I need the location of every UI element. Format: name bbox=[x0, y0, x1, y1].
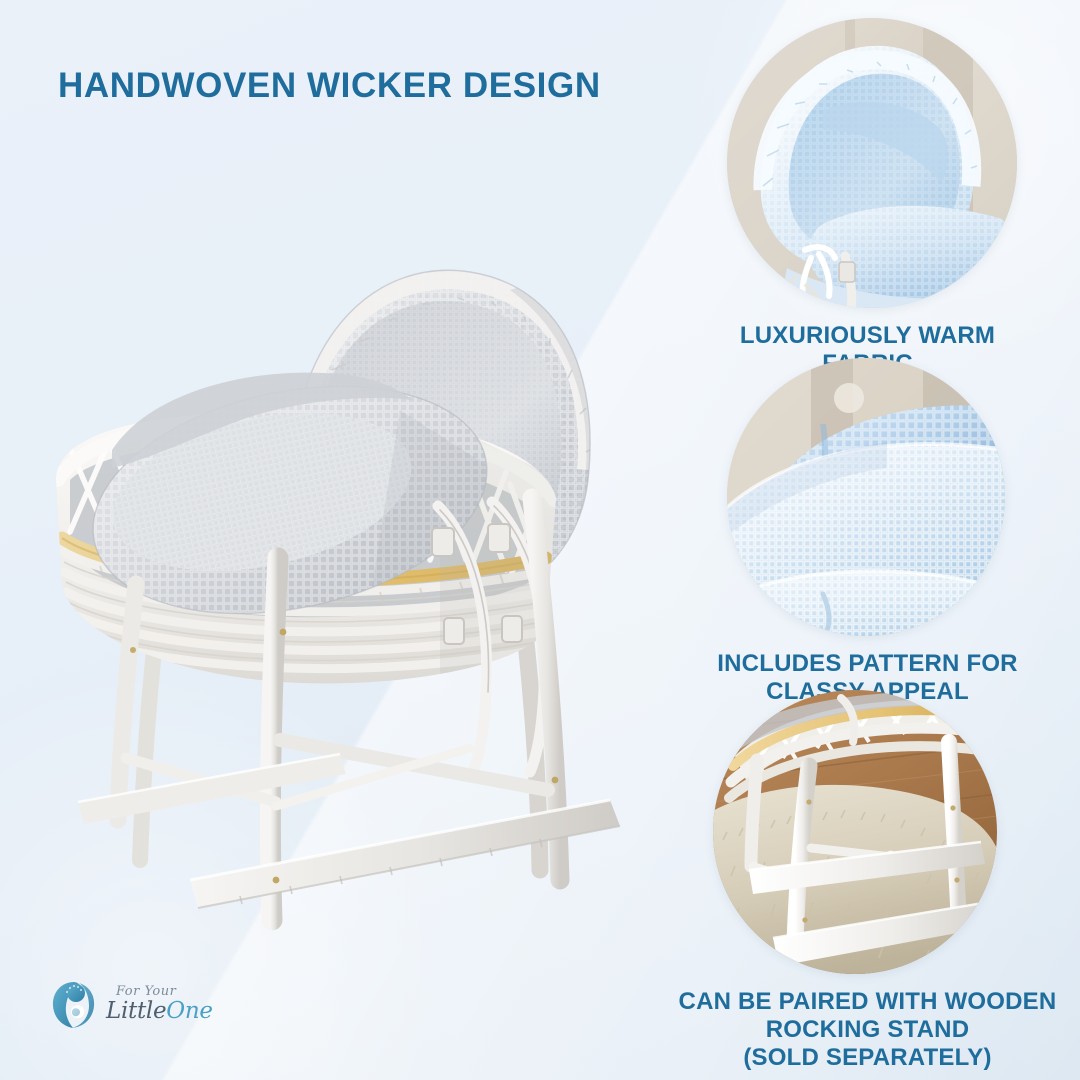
hero-product-image bbox=[40, 180, 660, 980]
caption-line: INCLUDES PATTERN FOR bbox=[655, 650, 1080, 678]
feature-pattern: INCLUDES PATTERN FOR CLASSY APPEAL bbox=[655, 358, 1080, 706]
logo-line-for-your: For Your bbox=[116, 985, 213, 998]
feature-column: LUXURIOUSLY WARM FABRIC bbox=[655, 0, 1080, 1080]
mother-and-baby-icon bbox=[48, 976, 100, 1032]
caption-line: CAN BE PAIRED WITH WOODEN bbox=[655, 988, 1080, 1016]
feature-rocking-stand: CAN BE PAIRED WITH WOODEN ROCKING STAND … bbox=[655, 690, 1080, 1071]
logo-word-little: Little bbox=[106, 998, 166, 1024]
page-title: HANDWOVEN WICKER DESIGN bbox=[58, 66, 601, 106]
logo-line-little-one: LittleOne bbox=[106, 1000, 213, 1023]
feature-caption: CAN BE PAIRED WITH WOODEN ROCKING STAND … bbox=[655, 988, 1080, 1071]
feature-warm-fabric: LUXURIOUSLY WARM FABRIC bbox=[655, 18, 1080, 378]
caption-line: ROCKING STAND bbox=[655, 1016, 1080, 1044]
logo-word-one: One bbox=[166, 998, 212, 1024]
blue-moses-basket-hood-closeup-image bbox=[727, 18, 1017, 308]
brand-logo-text: For Your LittleOne bbox=[106, 985, 213, 1023]
caption-line: (SOLD SEPARATELY) bbox=[655, 1044, 1080, 1072]
blue-waffle-fabric-texture-closeup-image bbox=[727, 358, 1005, 636]
brand-logo: For Your LittleOne bbox=[48, 968, 228, 1040]
caption-line: LUXURIOUSLY WARM bbox=[655, 322, 1080, 350]
product-infographic: HANDWOVEN WICKER DESIGN bbox=[0, 0, 1080, 1080]
white-wooden-rocking-stand-on-rug-image bbox=[713, 690, 997, 974]
